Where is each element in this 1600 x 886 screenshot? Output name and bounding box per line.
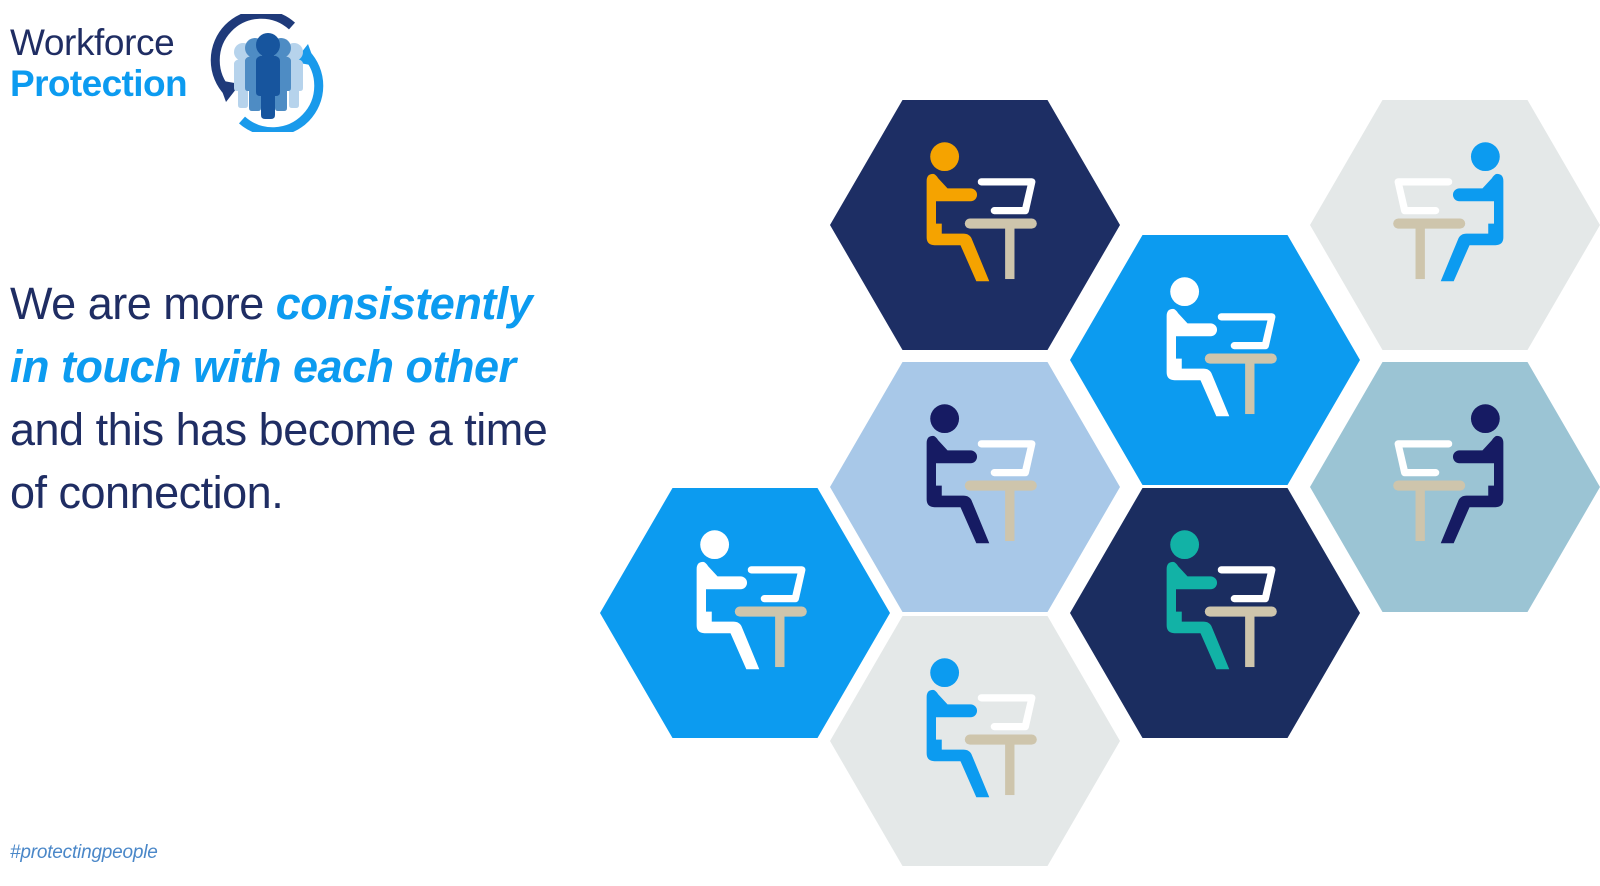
logo-line-workforce: Workforce: [10, 22, 200, 63]
headline-text: We are more consistently in touch with e…: [10, 272, 660, 524]
hexagon-cluster: [600, 80, 1600, 886]
headline-plain-1: We are more: [10, 278, 276, 329]
headline-line-4: of connection.: [10, 461, 660, 524]
headline-emphasis-2: in touch with each other: [10, 341, 516, 392]
headline-line-2: in touch with each other: [10, 335, 660, 398]
headline-line-3: and this has become a time: [10, 398, 660, 461]
people-in-cycle-logo-icon: [206, 14, 328, 132]
logo-wordmark: Workforce Protection: [10, 22, 200, 104]
logo-line-protection: Protection: [10, 63, 200, 104]
brand-logo: Workforce Protection: [10, 14, 330, 126]
headline-emphasis-1: consistently: [276, 278, 533, 329]
hashtag-label: #protectingpeople: [10, 842, 158, 864]
hex-bottom-right: [1070, 468, 1360, 758]
headline-line-1: We are more consistently: [10, 272, 660, 335]
